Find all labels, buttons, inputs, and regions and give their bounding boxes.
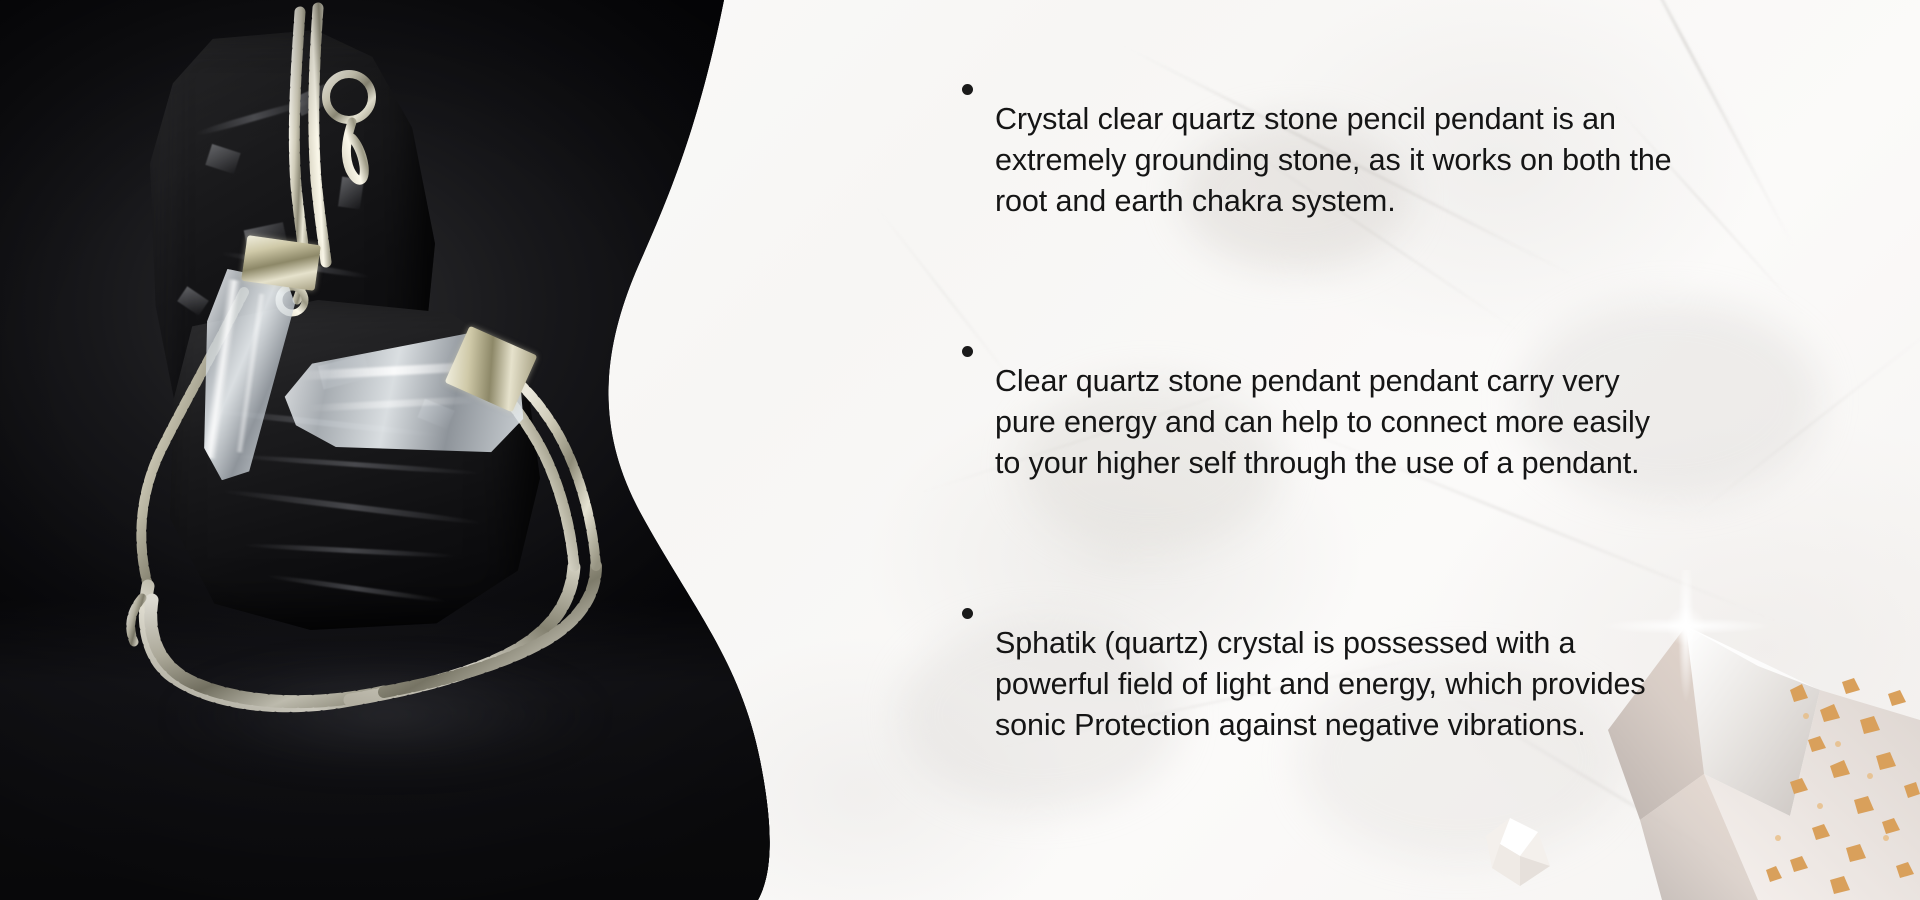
feature-bullet-list: Crystal clear quartz stone pencil pendan… <box>962 68 1682 776</box>
bullet-text-2: Clear quartz stone pendant pendant carry… <box>995 361 1682 484</box>
bullet-text-3: Sphatik (quartz) crystal is possessed wi… <box>995 623 1682 746</box>
bullet-dot-icon <box>962 346 973 357</box>
list-item: Sphatik (quartz) crystal is possessed wi… <box>962 592 1682 776</box>
product-feature-banner: Crystal clear quartz stone pencil pendan… <box>0 0 1920 900</box>
bullet-dot-icon <box>962 84 973 95</box>
bullet-text-1: Crystal clear quartz stone pencil pendan… <box>995 99 1682 222</box>
list-item: Crystal clear quartz stone pencil pendan… <box>962 68 1682 252</box>
bullet-dot-icon <box>962 608 973 619</box>
list-item: Clear quartz stone pendant pendant carry… <box>962 330 1682 514</box>
